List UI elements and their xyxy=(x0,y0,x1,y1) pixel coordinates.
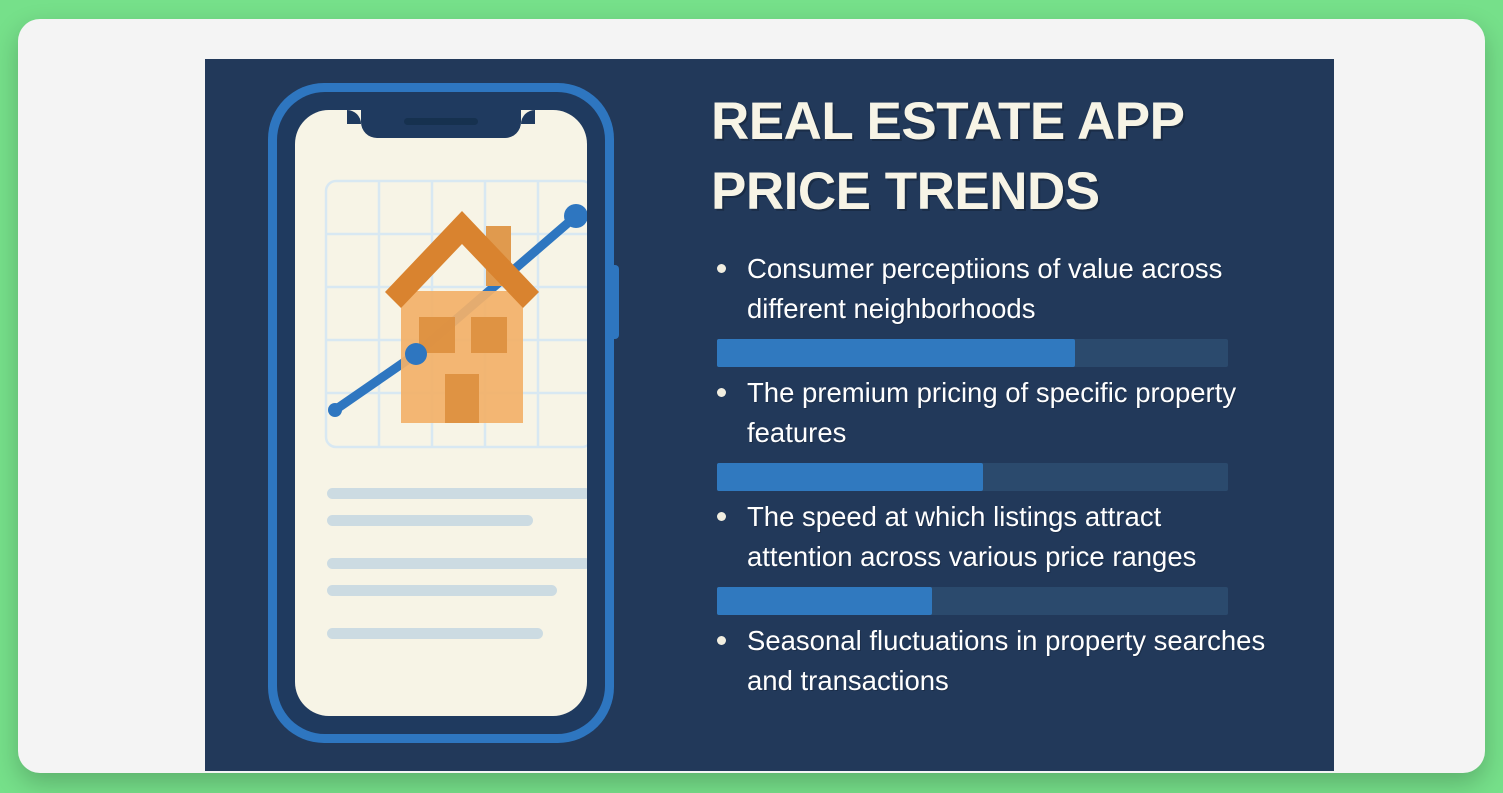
list-item: Seasonal fluctuations in property search… xyxy=(711,621,1311,700)
phone-inner-frame xyxy=(277,92,605,734)
page-title: REAL ESTATE APP PRICE TRENDS xyxy=(711,59,1311,227)
phone-screen xyxy=(295,110,587,716)
bullet-list: Consumer perceptiions of value across di… xyxy=(711,249,1311,701)
bullet-dot-icon xyxy=(717,264,726,273)
placeholder-line xyxy=(327,488,587,499)
progress-bar xyxy=(717,587,1228,615)
progress-bar xyxy=(717,463,1228,491)
bullet-dot-icon xyxy=(717,512,726,521)
bullet-dot-icon xyxy=(717,388,726,397)
slide-card: REAL ESTATE APP PRICE TRENDS Consumer pe… xyxy=(18,19,1485,773)
list-item: The speed at which listings attract atte… xyxy=(711,497,1311,615)
progress-bar-fill xyxy=(717,587,932,615)
bullet-text: Seasonal fluctuations in property search… xyxy=(747,621,1267,700)
placeholder-line xyxy=(327,558,587,569)
phone-speaker-icon xyxy=(404,118,478,125)
bullet-text: Consumer perceptiions of value across di… xyxy=(747,249,1267,328)
price-trend-chart xyxy=(323,178,587,450)
house-icon xyxy=(385,211,539,423)
bullet-text: The speed at which listings attract atte… xyxy=(747,497,1267,576)
placeholder-line xyxy=(327,585,557,596)
phone-outer-frame xyxy=(268,83,614,743)
phone-side-button[interactable] xyxy=(612,265,619,339)
screen-text-placeholders xyxy=(327,488,587,655)
progress-bar-fill xyxy=(717,463,983,491)
progress-bar xyxy=(717,339,1228,367)
bullet-dot-icon xyxy=(717,636,726,645)
bullet-text: The premium pricing of specific property… xyxy=(747,373,1267,452)
placeholder-line xyxy=(327,628,543,639)
phone-illustration xyxy=(205,59,685,771)
progress-bar-fill xyxy=(717,339,1075,367)
placeholder-line xyxy=(327,515,533,526)
presentation-slide: REAL ESTATE APP PRICE TRENDS Consumer pe… xyxy=(205,59,1334,771)
list-item: The premium pricing of specific property… xyxy=(711,373,1311,491)
slide-backdrop: REAL ESTATE APP PRICE TRENDS Consumer pe… xyxy=(0,0,1503,793)
list-item: Consumer perceptiions of value across di… xyxy=(711,249,1311,367)
phone-notch xyxy=(361,110,521,138)
slide-content: REAL ESTATE APP PRICE TRENDS Consumer pe… xyxy=(711,59,1311,771)
